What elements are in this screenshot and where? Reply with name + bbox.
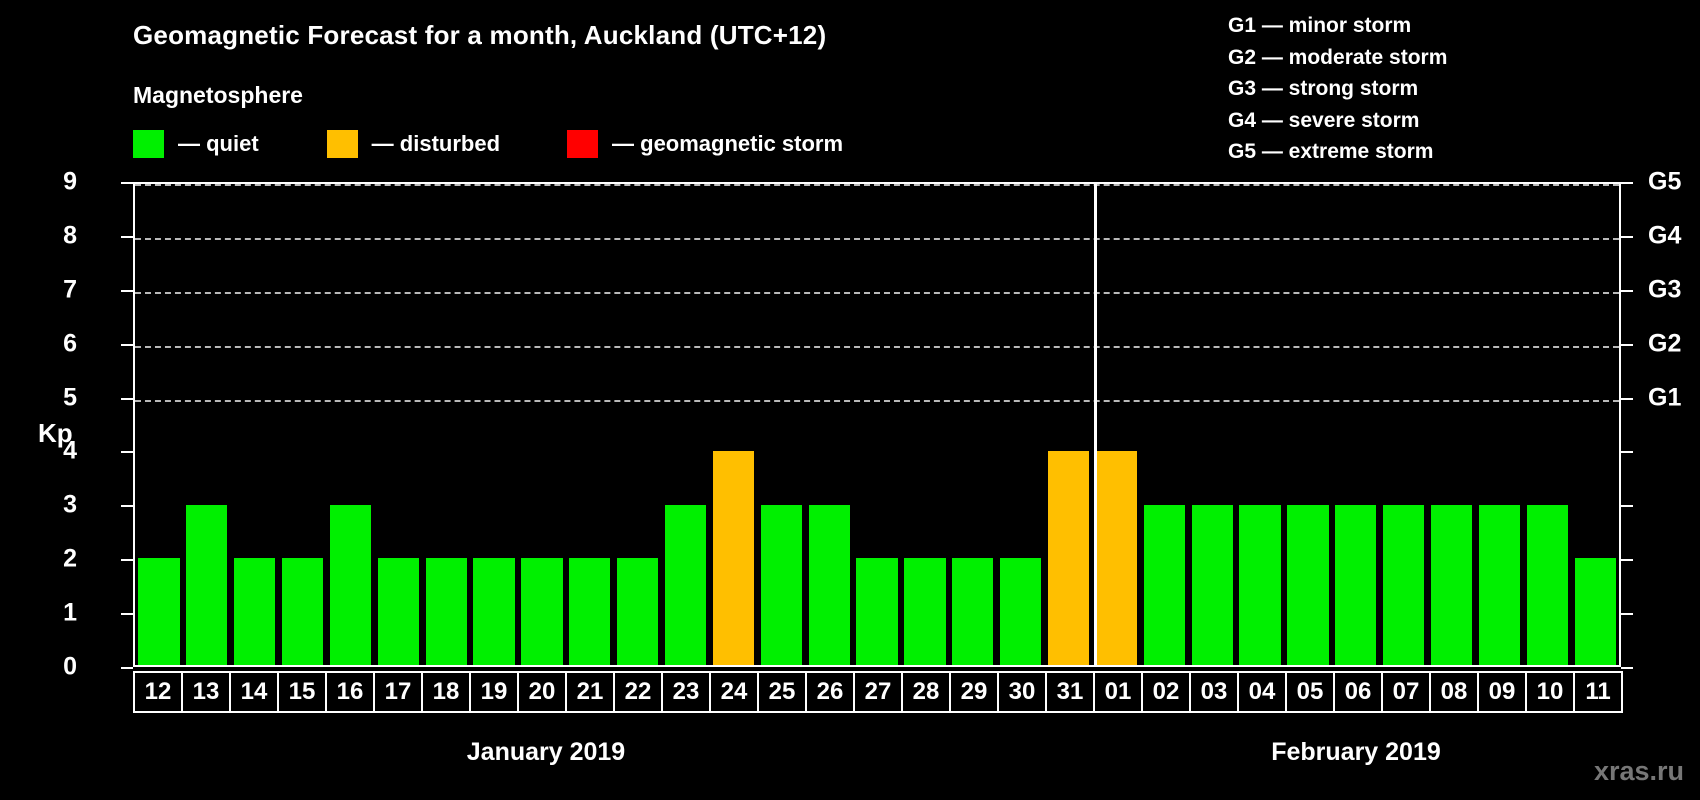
storm-scale-legend: G1 — minor storm G2 — moderate storm G3 … — [1228, 10, 1447, 168]
bar-26[interactable] — [809, 505, 850, 665]
g-tick-label-G5: G5 — [1648, 168, 1681, 197]
bar-slot[interactable] — [997, 184, 1045, 665]
bar-09[interactable] — [1479, 505, 1520, 665]
g-minor-mark-kp-2 — [1621, 559, 1633, 561]
bar-slot[interactable] — [327, 184, 375, 665]
bar-slot[interactable] — [1332, 184, 1380, 665]
y-tick-label-0: 0 — [37, 653, 77, 682]
storm-scale-row-g5: G5 — extreme storm — [1228, 136, 1447, 168]
bar-slot[interactable] — [231, 184, 279, 665]
bar-11[interactable] — [1575, 558, 1616, 665]
bar-slot[interactable] — [1476, 184, 1524, 665]
bar-01[interactable] — [1096, 451, 1137, 665]
page-title: Geomagnetic Forecast for a month, Auckla… — [133, 20, 826, 51]
g-tick-label-G3: G3 — [1648, 275, 1681, 304]
y-tick-mark-0 — [121, 667, 133, 669]
bar-slot[interactable] — [135, 184, 183, 665]
day-cell-16[interactable]: 16 — [325, 671, 375, 713]
bar-slot[interactable] — [470, 184, 518, 665]
bar-slot[interactable] — [518, 184, 566, 665]
y-tick-mark-1 — [121, 613, 133, 615]
bar-slot[interactable] — [183, 184, 231, 665]
day-cell-15[interactable]: 15 — [277, 671, 327, 713]
bar-slot[interactable] — [1188, 184, 1236, 665]
plot-area — [133, 182, 1621, 667]
y-tick-label-2: 2 — [37, 545, 77, 574]
bar-slot[interactable] — [757, 184, 805, 665]
legend-swatch-storm — [567, 130, 598, 158]
bar-slot[interactable] — [614, 184, 662, 665]
day-cell-21[interactable]: 21 — [565, 671, 615, 713]
bar-03[interactable] — [1192, 505, 1233, 665]
g-tick-mark-G2 — [1621, 344, 1633, 346]
bar-slot[interactable] — [901, 184, 949, 665]
bar-13[interactable] — [186, 505, 227, 665]
bar-28[interactable] — [904, 558, 945, 665]
legend-item-disturbed: — disturbed — [327, 130, 500, 158]
day-cell-22[interactable]: 22 — [613, 671, 663, 713]
g-minor-mark-kp-3 — [1621, 505, 1633, 507]
day-cell-24[interactable]: 24 — [709, 671, 759, 713]
day-cell-10[interactable]: 10 — [1525, 671, 1575, 713]
y-tick-label-8: 8 — [37, 221, 77, 250]
month-label-january: January 2019 — [0, 738, 1092, 767]
bar-27[interactable] — [856, 558, 897, 665]
day-cell-03[interactable]: 03 — [1189, 671, 1239, 713]
bar-slot[interactable] — [374, 184, 422, 665]
legend-swatch-disturbed — [327, 130, 358, 158]
day-cell-17[interactable]: 17 — [373, 671, 423, 713]
day-cell-02[interactable]: 02 — [1141, 671, 1191, 713]
bar-16[interactable] — [330, 505, 371, 665]
bar-23[interactable] — [665, 505, 706, 665]
y-tick-mark-6 — [121, 344, 133, 346]
g-tick-label-G4: G4 — [1648, 221, 1681, 250]
watermark: xras.ru — [1594, 756, 1684, 787]
y-tick-label-4: 4 — [37, 437, 77, 466]
bar-31[interactable] — [1048, 451, 1089, 665]
bar-25[interactable] — [761, 505, 802, 665]
day-cell-12[interactable]: 12 — [133, 671, 183, 713]
bar-slot[interactable] — [1093, 184, 1141, 665]
bar-24[interactable] — [713, 451, 754, 665]
day-cell-07[interactable]: 07 — [1381, 671, 1431, 713]
bar-21[interactable] — [569, 558, 610, 665]
day-cell-18[interactable]: 18 — [421, 671, 471, 713]
day-cell-11[interactable]: 11 — [1573, 671, 1623, 713]
day-cell-08[interactable]: 08 — [1429, 671, 1479, 713]
y-tick-mark-7 — [121, 290, 133, 292]
day-axis: 1213141516171819202122232425262728293031… — [133, 671, 1621, 713]
g-tick-label-G2: G2 — [1648, 329, 1681, 358]
y-tick-mark-9 — [121, 182, 133, 184]
storm-scale-row-g4: G4 — severe storm — [1228, 105, 1447, 137]
g-tick-mark-G3 — [1621, 290, 1633, 292]
day-cell-28[interactable]: 28 — [901, 671, 951, 713]
bar-slot[interactable] — [1236, 184, 1284, 665]
day-cell-06[interactable]: 06 — [1333, 671, 1383, 713]
month-boundary-line — [1094, 182, 1097, 667]
bar-slot[interactable] — [422, 184, 470, 665]
bar-18[interactable] — [426, 558, 467, 665]
bar-slot[interactable] — [805, 184, 853, 665]
y-tick-label-1: 1 — [37, 599, 77, 628]
legend-label-storm: — geomagnetic storm — [612, 131, 843, 157]
bar-10[interactable] — [1527, 505, 1568, 665]
bar-slot[interactable] — [1380, 184, 1428, 665]
bar-06[interactable] — [1335, 505, 1376, 665]
y-tick-label-3: 3 — [37, 491, 77, 520]
chart-page: Geomagnetic Forecast for a month, Auckla… — [0, 0, 1700, 800]
y-tick-label-6: 6 — [37, 329, 77, 358]
bar-05[interactable] — [1287, 505, 1328, 665]
bar-slot[interactable] — [1284, 184, 1332, 665]
legend-item-quiet: — quiet — [133, 130, 259, 158]
legend-label-disturbed: — disturbed — [372, 131, 500, 157]
bar-04[interactable] — [1239, 505, 1280, 665]
bar-02[interactable] — [1144, 505, 1185, 665]
legend-swatch-quiet — [133, 130, 164, 158]
y-tick-mark-5 — [121, 398, 133, 400]
day-cell-23[interactable]: 23 — [661, 671, 711, 713]
y-tick-label-9: 9 — [37, 168, 77, 197]
y-tick-mark-4 — [121, 451, 133, 453]
legend: — quiet — disturbed — geomagnetic storm — [133, 130, 843, 158]
bar-19[interactable] — [473, 558, 514, 665]
day-cell-26[interactable]: 26 — [805, 671, 855, 713]
day-cell-30[interactable]: 30 — [997, 671, 1047, 713]
g-tick-mark-G4 — [1621, 236, 1633, 238]
bar-slot[interactable] — [949, 184, 997, 665]
day-cell-20[interactable]: 20 — [517, 671, 567, 713]
storm-scale-row-g1: G1 — minor storm — [1228, 10, 1447, 42]
y-tick-label-5: 5 — [37, 383, 77, 412]
g-tick-label-G1: G1 — [1648, 383, 1681, 412]
y-tick-label-7: 7 — [37, 275, 77, 304]
bar-slot[interactable] — [1571, 184, 1619, 665]
day-cell-29[interactable]: 29 — [949, 671, 999, 713]
day-cell-14[interactable]: 14 — [229, 671, 279, 713]
bar-slot[interactable] — [1428, 184, 1476, 665]
bar-slot[interactable] — [1045, 184, 1093, 665]
day-cell-04[interactable]: 04 — [1237, 671, 1287, 713]
bar-slot[interactable] — [1523, 184, 1571, 665]
g-minor-mark-kp-1 — [1621, 613, 1633, 615]
y-tick-mark-2 — [121, 559, 133, 561]
bar-15[interactable] — [282, 558, 323, 665]
y-tick-mark-3 — [121, 505, 133, 507]
bar-slot[interactable] — [1140, 184, 1188, 665]
bar-22[interactable] — [617, 558, 658, 665]
day-cell-19[interactable]: 19 — [469, 671, 519, 713]
g-tick-mark-G5 — [1621, 182, 1633, 184]
section-label-magnetosphere: Magnetosphere — [133, 82, 303, 109]
bar-30[interactable] — [1000, 558, 1041, 665]
legend-item-storm: — geomagnetic storm — [567, 130, 843, 158]
day-cell-09[interactable]: 09 — [1477, 671, 1527, 713]
day-cell-31[interactable]: 31 — [1045, 671, 1095, 713]
storm-scale-row-g3: G3 — strong storm — [1228, 73, 1447, 105]
y-tick-mark-8 — [121, 236, 133, 238]
bar-slot[interactable] — [853, 184, 901, 665]
bar-20[interactable] — [521, 558, 562, 665]
g-tick-mark-G1 — [1621, 398, 1633, 400]
bar-29[interactable] — [952, 558, 993, 665]
day-cell-01[interactable]: 01 — [1093, 671, 1143, 713]
day-cell-27[interactable]: 27 — [853, 671, 903, 713]
bar-17[interactable] — [378, 558, 419, 665]
day-cell-25[interactable]: 25 — [757, 671, 807, 713]
bar-slot[interactable] — [662, 184, 710, 665]
bar-14[interactable] — [234, 558, 275, 665]
bar-12[interactable] — [138, 558, 179, 665]
bar-slot[interactable] — [279, 184, 327, 665]
g-minor-mark-kp-0 — [1621, 667, 1633, 669]
month-label-february: February 2019 — [1092, 738, 1620, 767]
day-cell-05[interactable]: 05 — [1285, 671, 1335, 713]
bar-slot[interactable] — [566, 184, 614, 665]
storm-scale-row-g2: G2 — moderate storm — [1228, 42, 1447, 74]
bar-slot[interactable] — [710, 184, 758, 665]
day-cell-13[interactable]: 13 — [181, 671, 231, 713]
legend-label-quiet: — quiet — [178, 131, 259, 157]
bar-08[interactable] — [1431, 505, 1472, 665]
bar-series — [135, 184, 1619, 665]
g-minor-mark-kp-4 — [1621, 451, 1633, 453]
bar-07[interactable] — [1383, 505, 1424, 665]
